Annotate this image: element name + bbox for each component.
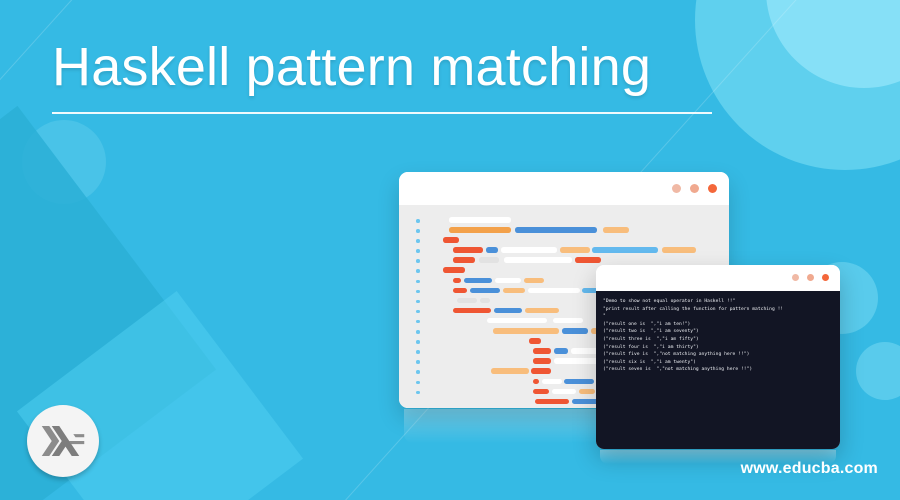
code-line xyxy=(431,227,725,233)
code-token xyxy=(453,278,461,284)
terminal-line: ("result seven is ","not matching anythi… xyxy=(603,366,834,374)
code-token xyxy=(453,288,467,294)
gutter-dot-icon xyxy=(416,330,420,334)
gutter-dot-icon xyxy=(416,350,420,354)
code-token xyxy=(457,298,477,304)
code-token xyxy=(529,338,541,344)
gutter-dot-icon xyxy=(416,360,420,364)
gutter-dot-icon xyxy=(416,249,420,253)
haskell-logo xyxy=(27,405,99,477)
code-gap xyxy=(431,308,453,314)
maximize-dot-icon[interactable] xyxy=(807,274,814,281)
code-editor-window-controls[interactable] xyxy=(672,184,717,193)
code-token xyxy=(603,227,629,233)
code-gap xyxy=(431,348,533,354)
code-gap xyxy=(431,389,533,395)
terminal-line: ("result two is ","i am seventy") xyxy=(603,328,834,336)
decor-circle-right-lower xyxy=(856,342,900,400)
code-token xyxy=(449,217,511,223)
page-title: Haskell pattern matching xyxy=(52,36,752,98)
terminal-line: ("result three is ","i am fifty") xyxy=(603,336,834,344)
code-gap xyxy=(431,217,449,223)
gutter-dot-icon xyxy=(416,391,420,395)
code-gap xyxy=(431,267,443,273)
code-token xyxy=(453,247,483,253)
code-token xyxy=(504,257,572,263)
gutter-dot-icon xyxy=(416,370,420,374)
terminal-line: ("result four is ","i am thirty") xyxy=(603,344,834,352)
code-line xyxy=(431,217,725,223)
code-token xyxy=(554,348,568,354)
code-token xyxy=(515,227,597,233)
code-gap xyxy=(431,247,453,253)
code-token xyxy=(443,267,465,273)
code-token xyxy=(470,288,500,294)
maximize-dot-icon[interactable] xyxy=(690,184,699,193)
minimize-dot-icon[interactable] xyxy=(792,274,799,281)
terminal-line: "Demo to show not equal operator in Hask… xyxy=(603,298,834,306)
code-token xyxy=(487,318,547,324)
code-gap xyxy=(431,358,533,364)
terminal-line: ("result six is ","i am twenty") xyxy=(603,359,834,367)
gutter-dot-icon xyxy=(416,300,420,304)
code-gap xyxy=(431,338,529,344)
banner-root: Haskell pattern matching "Demo to xyxy=(0,0,900,500)
code-token xyxy=(493,328,559,334)
terminal-line: ("result one is ","i am ten!") xyxy=(603,321,834,329)
code-line xyxy=(431,237,725,243)
terminal-line: "print result after calling the function… xyxy=(603,306,834,314)
code-editor-titlebar xyxy=(399,172,729,205)
code-token xyxy=(528,288,580,294)
code-gap xyxy=(431,227,449,233)
code-token xyxy=(662,247,696,253)
code-token xyxy=(480,298,490,304)
code-token xyxy=(533,389,549,395)
title-underline xyxy=(52,112,712,114)
gutter-dot-icon xyxy=(416,229,420,233)
terminal-window[interactable]: "Demo to show not equal operator in Hask… xyxy=(596,265,840,449)
code-gap xyxy=(431,368,491,374)
code-token xyxy=(575,257,601,263)
gutter-dot-icon xyxy=(416,239,420,243)
code-gap xyxy=(431,288,453,294)
code-token xyxy=(486,247,498,253)
code-token xyxy=(553,318,583,324)
code-editor-gutter xyxy=(416,219,420,394)
code-token xyxy=(533,358,551,364)
gutter-dot-icon xyxy=(416,280,420,284)
code-token xyxy=(503,288,525,294)
code-gap xyxy=(431,298,457,304)
gutter-dot-icon xyxy=(416,381,420,385)
title-block: Haskell pattern matching xyxy=(52,36,752,114)
gutter-dot-icon xyxy=(416,320,420,324)
code-token xyxy=(491,368,529,374)
code-gap xyxy=(431,237,443,243)
terminal-output: "Demo to show not equal operator in Hask… xyxy=(596,291,840,449)
code-token xyxy=(564,379,594,385)
code-gap xyxy=(431,399,535,405)
code-token xyxy=(535,399,569,405)
minimize-dot-icon[interactable] xyxy=(672,184,681,193)
code-gap xyxy=(431,379,533,385)
code-gap xyxy=(431,257,453,263)
code-token xyxy=(592,247,658,253)
gutter-dot-icon xyxy=(416,219,420,223)
close-dot-icon[interactable] xyxy=(822,274,829,281)
code-line xyxy=(431,247,725,253)
gutter-dot-icon xyxy=(416,269,420,273)
code-token xyxy=(554,358,602,364)
close-dot-icon[interactable] xyxy=(708,184,717,193)
code-gap xyxy=(431,328,493,334)
gutter-dot-icon xyxy=(416,340,420,344)
gutter-dot-icon xyxy=(416,290,420,294)
code-token xyxy=(501,247,557,253)
code-token xyxy=(542,379,562,385)
haskell-lambda-icon xyxy=(41,426,85,456)
code-token xyxy=(453,257,475,263)
code-token xyxy=(562,328,588,334)
code-token xyxy=(533,348,551,354)
code-gap xyxy=(431,318,487,324)
code-token xyxy=(449,227,511,233)
terminal-line: ("result five is ","not matching anythin… xyxy=(603,351,834,359)
code-token xyxy=(579,389,595,395)
code-token xyxy=(552,389,576,395)
code-token xyxy=(443,237,459,243)
terminal-window-controls[interactable] xyxy=(792,274,829,281)
terminal-titlebar xyxy=(596,265,840,291)
code-token xyxy=(494,308,522,314)
code-token xyxy=(453,308,491,314)
code-token xyxy=(531,368,551,374)
terminal-line: " xyxy=(603,313,834,321)
gutter-dot-icon xyxy=(416,259,420,263)
code-token xyxy=(524,278,544,284)
code-token xyxy=(479,257,499,263)
gutter-dot-icon xyxy=(416,310,420,314)
code-token xyxy=(464,278,492,284)
code-token xyxy=(525,308,559,314)
code-token xyxy=(560,247,590,253)
footer-url: www.educba.com xyxy=(741,460,878,478)
code-token xyxy=(495,278,521,284)
code-gap xyxy=(431,278,453,284)
code-line xyxy=(431,257,725,263)
